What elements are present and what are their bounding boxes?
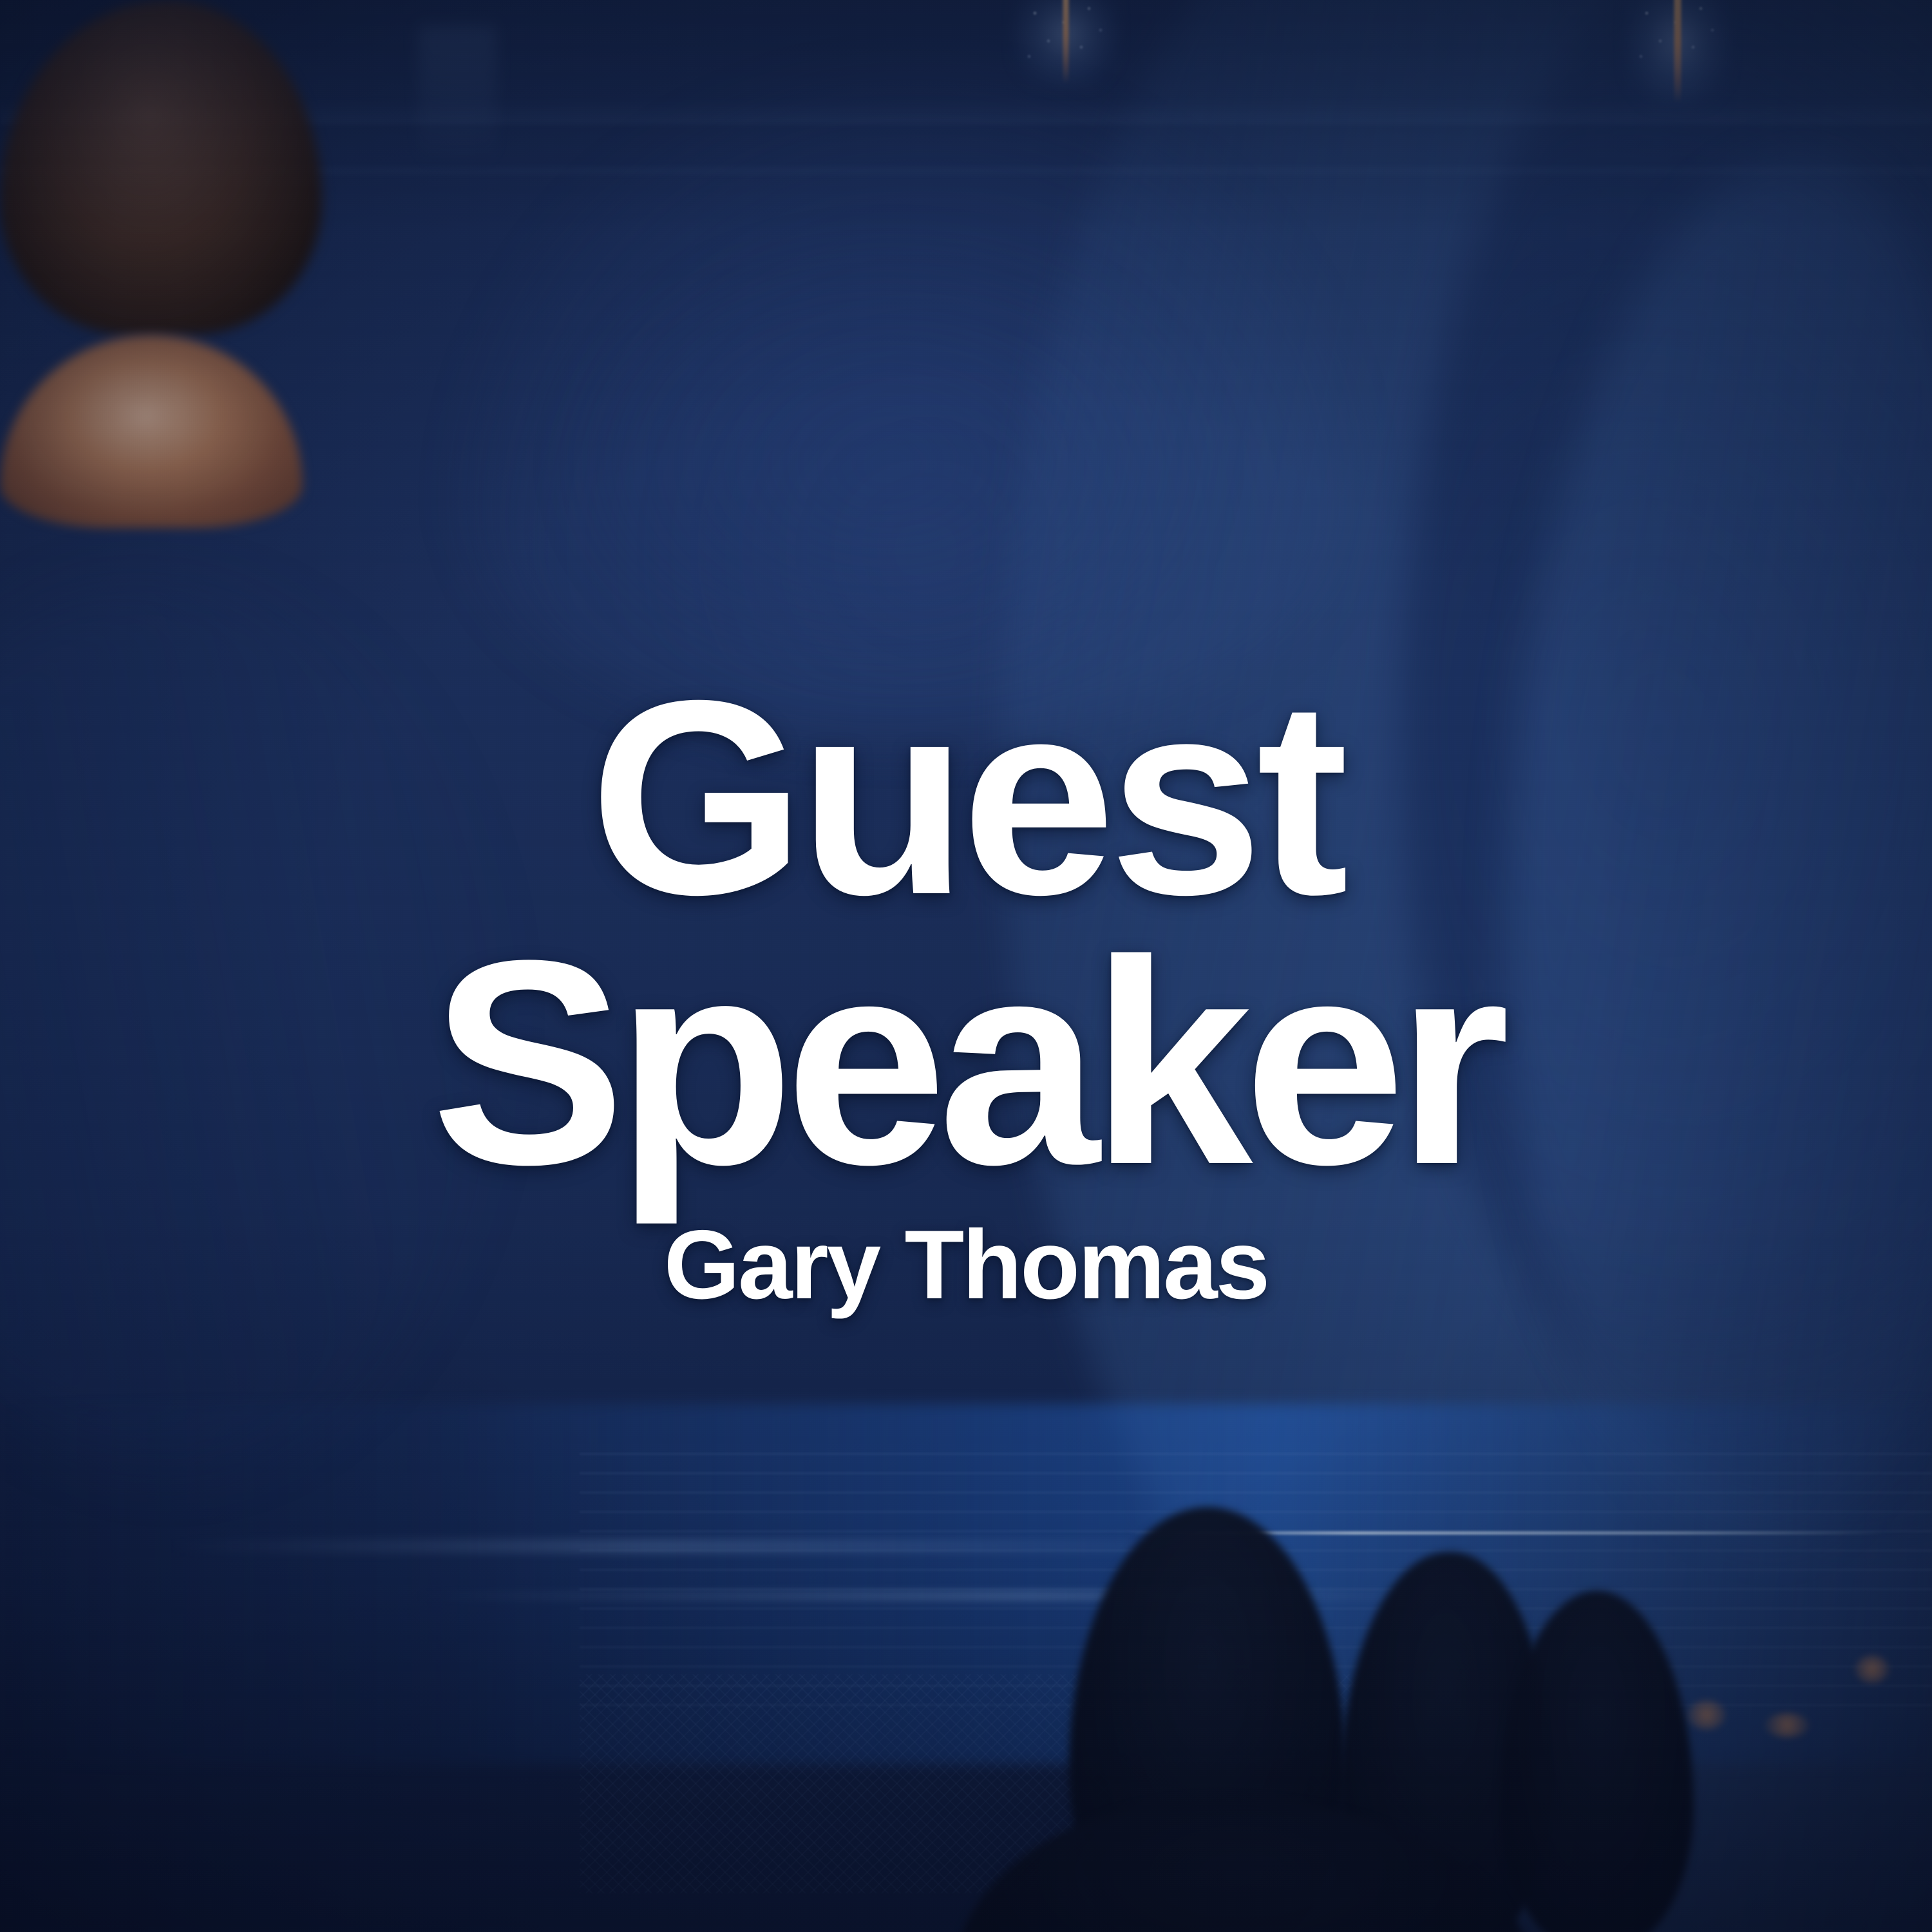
- hanging-light-fixture-left: [1008, 0, 1124, 103]
- light-filament-icon: [1674, 0, 1681, 103]
- hanging-light-fixture-right: [1620, 0, 1736, 122]
- speaker-name: Gary Thomas: [0, 1216, 1932, 1314]
- background-arc-upper-center: [464, 77, 1352, 734]
- warm-highlight: [1765, 1713, 1810, 1738]
- light-filament-icon: [1063, 0, 1069, 84]
- warm-highlight: [1687, 1700, 1726, 1730]
- light-streak-upper: [167, 1539, 1133, 1553]
- title-text-block: Guest Speaker Gary Thomas: [0, 670, 1932, 1314]
- headline-line-speaker: Speaker: [0, 927, 1932, 1198]
- warm-highlight: [1855, 1655, 1889, 1683]
- foreground-person-head: [0, 335, 303, 528]
- headline-line-guest: Guest: [0, 670, 1932, 927]
- background-arc-inner: [580, 251, 1198, 676]
- truss-glow: [419, 26, 496, 167]
- foreground-person-hair: [0, 0, 322, 335]
- title-card-graphic: Guest Speaker Gary Thomas: [0, 0, 1932, 1932]
